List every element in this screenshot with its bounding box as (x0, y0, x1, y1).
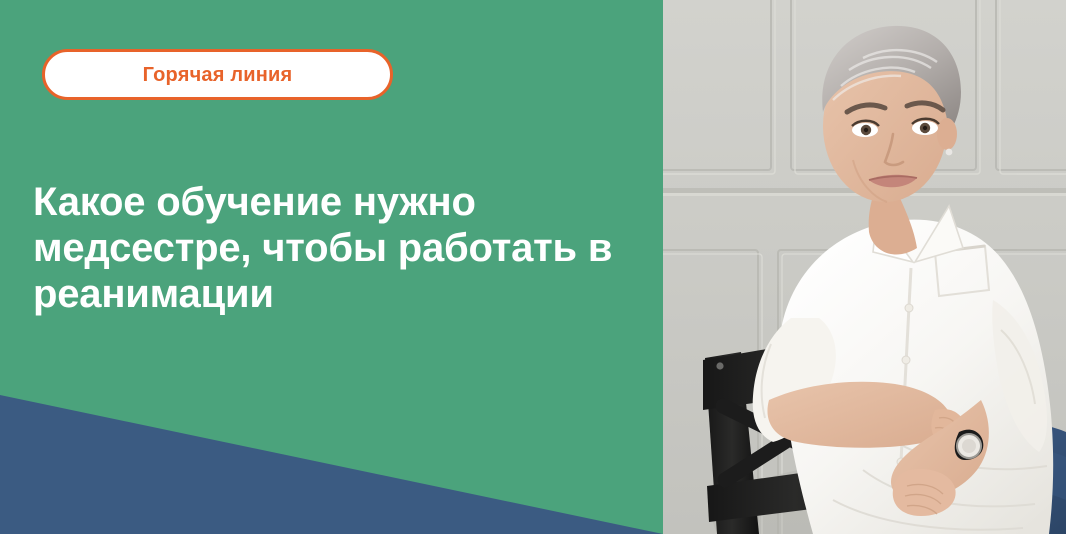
hot-line-badge[interactable]: Горячая линия (42, 49, 393, 100)
portrait-photo (663, 0, 1066, 534)
hot-line-badge-label: Горячая линия (143, 65, 293, 85)
hot-line-promo-banner: Горячая линия Какое обучение нужно медсе… (0, 0, 1066, 534)
page-title: Какое обучение нужно медсестре, чтобы ра… (33, 179, 658, 317)
